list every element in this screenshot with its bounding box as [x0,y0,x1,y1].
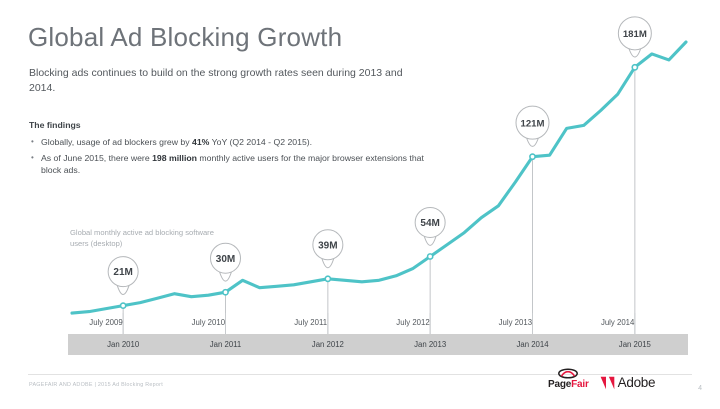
callout-bubble [313,230,343,260]
bullet-icon: • [29,152,41,164]
callout-value-label: 54M [420,218,439,229]
list-item: • As of June 2015, there were 198 millio… [29,152,429,176]
callout-pointer [526,137,538,146]
data-point-marker [223,290,228,295]
findings-block: The findings • Globally, usage of ad blo… [29,120,429,181]
finding-2-pre: As of June 2015, there were [41,153,152,163]
data-point-marker [530,154,535,159]
pagefair-swirl-icon [557,368,579,379]
finding-1-bold: 41% [192,137,209,147]
finding-2-bold: 198 million [152,153,197,163]
axis-band [68,334,688,355]
axis-label-jan-2015: Jan 2015 [619,340,651,349]
slide-canvas: Global Ad Blocking Growth Blocking ads c… [0,0,720,409]
callout-pointer [117,284,129,294]
axis-label-jan-2014: Jan 2014 [516,340,548,349]
data-callout-181m: 181M [618,17,651,70]
data-point-marker [325,276,330,281]
data-point-marker [632,65,637,70]
pagefair-wordmark: PageFair [548,380,589,390]
axis-label-july-2014: July 2014 [601,318,634,327]
axis-label-jan-2012: Jan 2012 [312,340,344,349]
adobe-wordmark: Adobe [618,375,656,390]
data-point-marker [428,254,433,259]
data-callout-39m: 39M [313,230,343,282]
page-subtitle: Blocking ads continues to build on the s… [29,66,419,96]
data-callout-21m: 21M [108,257,138,309]
adobe-a-mark-icon [600,376,615,390]
callout-value-label: 30M [216,254,235,265]
data-callout-30m: 30M [211,243,241,295]
list-item: • Globally, usage of ad blockers grew by… [29,136,429,148]
axis-july-row: July 2009July 2010July 2011July 2012July… [68,312,688,334]
axis-label-july-2010: July 2010 [192,318,225,327]
axis-label-july-2013: July 2013 [499,318,532,327]
page-number: 4 [698,385,702,392]
axis-label-july-2009: July 2009 [89,318,122,327]
data-callout-121m: 121M [516,106,549,159]
callout-pointer [219,271,231,281]
footer-credit: PAGEFAIR AND ADOBE | 2015 Ad Blocking Re… [29,382,163,388]
callout-bubble [618,17,651,50]
axis-label-jan-2010: Jan 2010 [107,340,139,349]
chart-caption: Global monthly active ad blocking softwa… [70,228,220,249]
data-callout-54m: 54M [415,207,445,259]
axis-label-jan-2011: Jan 2011 [210,340,242,349]
callout-bubble [108,257,138,287]
callout-value-label: 181M [623,29,647,40]
bullet-icon: • [29,136,41,148]
finding-1-post: YoY (Q2 2014 - Q2 2015). [209,137,312,147]
callout-bubble [415,207,445,237]
callout-bubble [516,106,549,139]
axis-label-july-2011: July 2011 [294,318,327,327]
page-title: Global Ad Blocking Growth [28,22,342,53]
callout-pointer [424,235,436,245]
finding-text-2: As of June 2015, there were 198 million … [41,152,429,176]
findings-heading: The findings [29,120,429,130]
callout-value-label: 39M [318,240,337,251]
pagefair-logo: PageFair [548,368,589,390]
pagefair-word-fair: Fair [571,379,589,390]
axis-label-july-2012: July 2012 [396,318,429,327]
callout-value-label: 121M [521,118,545,129]
callout-leader-lines [123,67,635,334]
callout-value-label: 21M [113,267,132,278]
logo-group: PageFair Adobe [548,368,655,390]
pagefair-word-page: Page [548,379,571,390]
callout-pointer [322,258,334,268]
finding-1-pre: Globally, usage of ad blockers grew by [41,137,192,147]
axis-label-jan-2013: Jan 2013 [414,340,446,349]
callout-pointer [629,48,641,57]
data-point-marker [121,303,126,308]
adobe-logo: Adobe [600,375,656,390]
finding-text-1: Globally, usage of ad blockers grew by 4… [41,136,429,148]
